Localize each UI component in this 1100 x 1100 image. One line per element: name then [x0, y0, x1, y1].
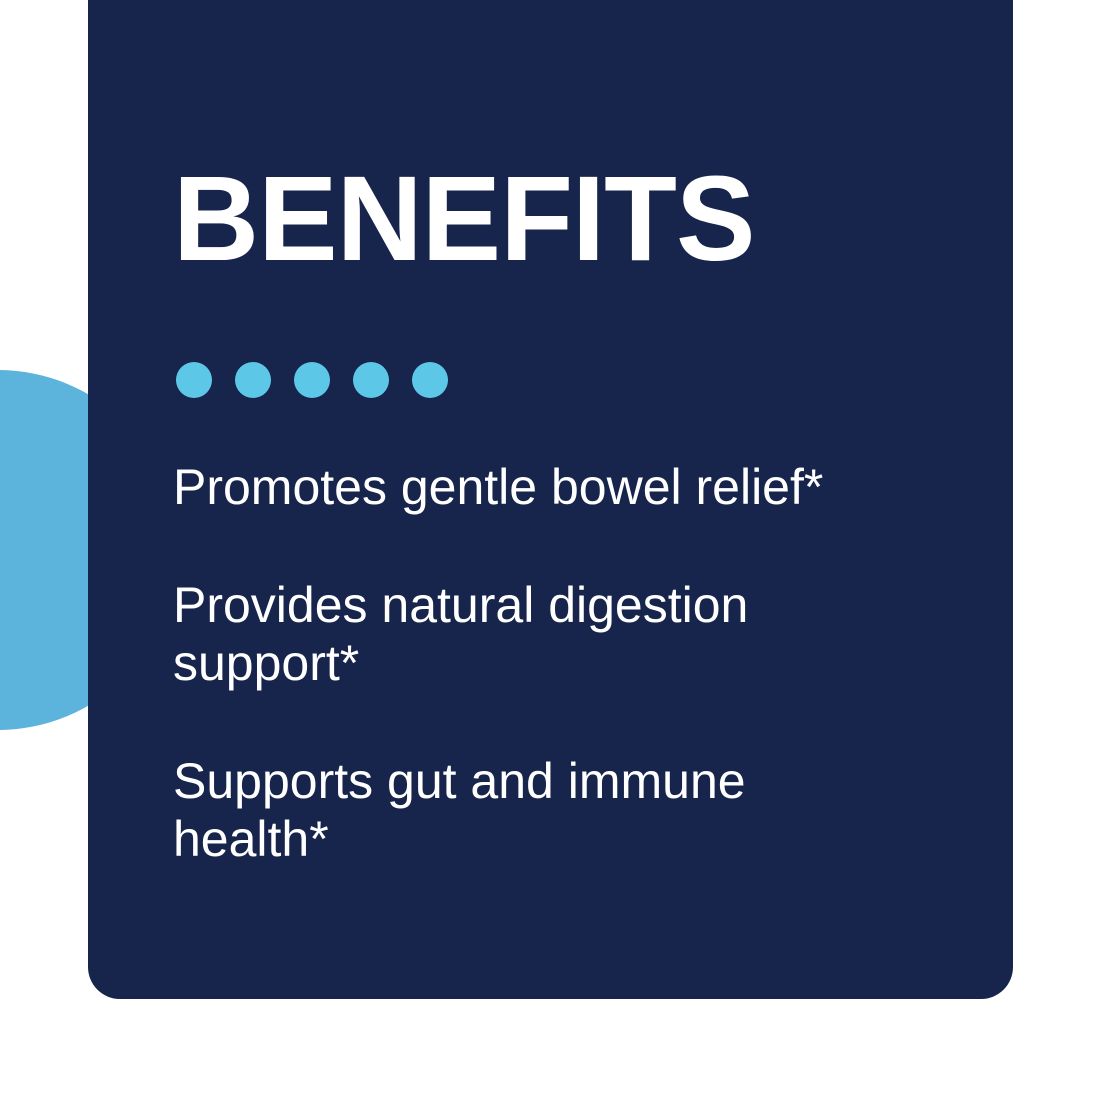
dot-divider-icon [353, 362, 389, 398]
list-item: Provides natural digestion support* [173, 576, 913, 692]
dot-divider-icon [176, 362, 212, 398]
dot-divider-icon [412, 362, 448, 398]
benefits-card: BENEFITS Promotes gentle bowel relief* P… [88, 0, 1013, 999]
dot-divider [176, 362, 448, 398]
list-item: Promotes gentle bowel relief* [173, 458, 913, 516]
page-title: BENEFITS [173, 158, 754, 279]
dot-divider-icon [235, 362, 271, 398]
dot-divider-icon [294, 362, 330, 398]
list-item: Supports gut and immune health* [173, 752, 913, 868]
benefits-list: Promotes gentle bowel relief* Provides n… [173, 458, 913, 868]
benefits-panel: BENEFITS Promotes gentle bowel relief* P… [0, 0, 1100, 1100]
